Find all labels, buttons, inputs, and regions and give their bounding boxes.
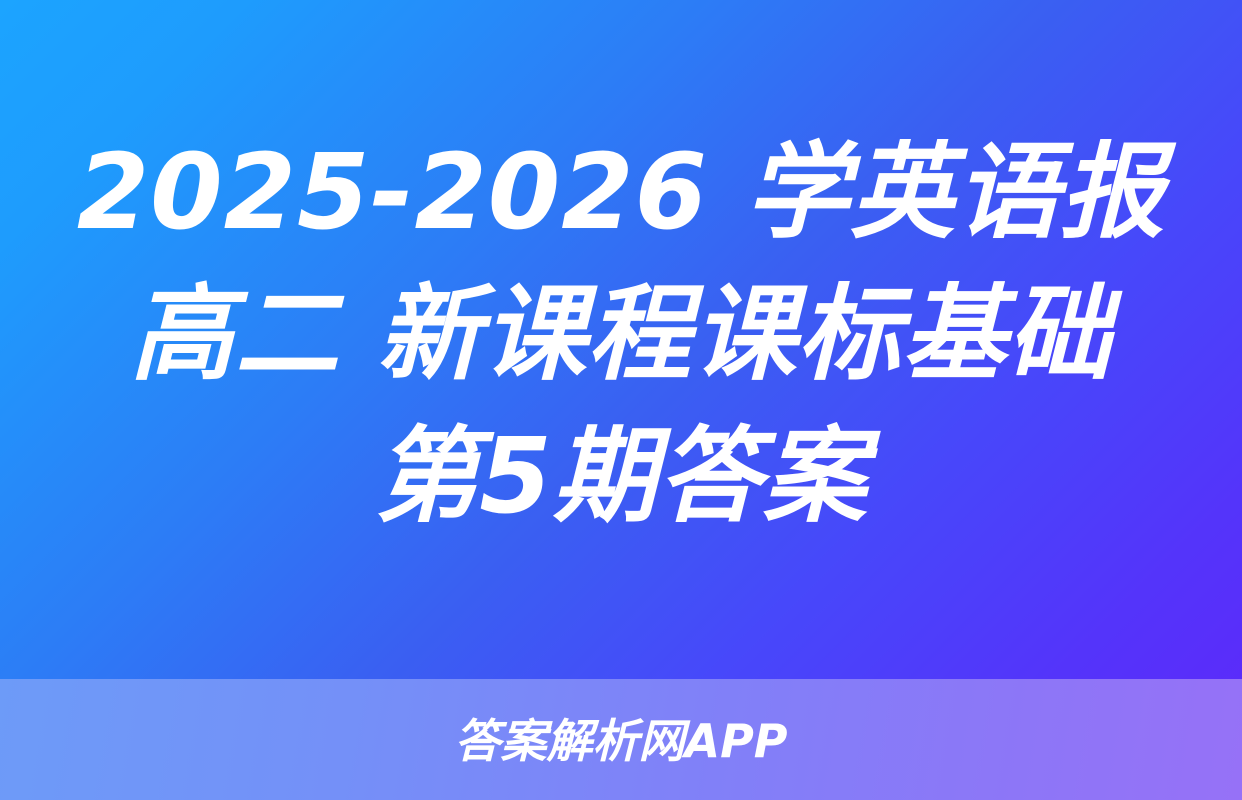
watermark-bar: 答案解析网APP	[0, 679, 1242, 800]
poster-hero: 2025-2026 学英语报 高二 新课程课标基础 第5期答案	[0, 0, 1242, 679]
answer-poster: 2025-2026 学英语报 高二 新课程课标基础 第5期答案 答案解析网APP	[0, 0, 1242, 800]
page-title: 2025-2026 学英语报 高二 新课程课标基础 第5期答案	[66, 121, 1176, 547]
brand-watermark: 答案解析网APP	[454, 718, 787, 764]
